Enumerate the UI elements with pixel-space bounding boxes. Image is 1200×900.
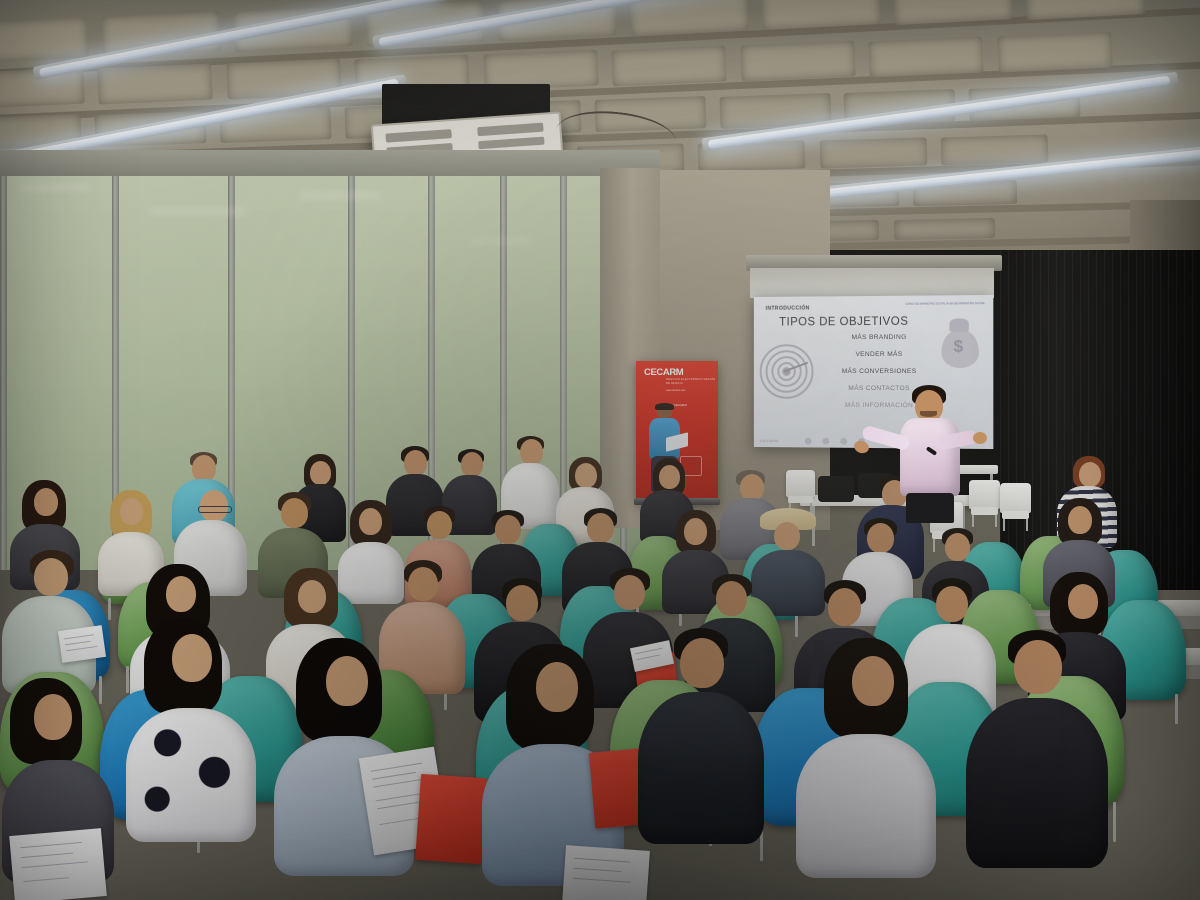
handout xyxy=(9,828,107,900)
banner-logo: CECARM xyxy=(644,367,683,378)
audience-member xyxy=(268,640,418,870)
glass-reflection xyxy=(20,186,90,189)
slide-corner-note: CURSO DE MARKETING DIGITAL PLAN DE MARKE… xyxy=(905,302,985,307)
slide-bullet: MÁS BRANDING xyxy=(815,334,945,342)
audience-member xyxy=(476,646,628,882)
ceiling-coffer xyxy=(612,45,728,86)
ceiling-coffer xyxy=(740,41,856,82)
eyeglasses xyxy=(198,506,232,513)
glass-reflection xyxy=(300,194,380,197)
slide-bullet: VENDER MÁS xyxy=(815,351,945,358)
audience-member xyxy=(632,628,768,848)
slide-title: TIPOS DE OBJETIVOS xyxy=(779,316,908,329)
presenter xyxy=(878,385,988,520)
ceiling-coffer xyxy=(98,63,214,104)
ceiling-coffer xyxy=(819,137,927,168)
chair-leg xyxy=(1175,694,1178,724)
audience-member xyxy=(120,620,260,840)
seminar-room-photo: INTRODUCCIÓN CURSO DE MARKETING DIGITAL … xyxy=(0,0,1200,900)
slide-bullet: MÁS CONVERSIONES xyxy=(815,368,945,375)
ac-vane xyxy=(478,137,544,150)
partition-header-rail xyxy=(0,150,660,176)
ceiling-coffer xyxy=(0,17,89,63)
ac-vane xyxy=(477,123,543,137)
glass-reflection xyxy=(470,240,530,242)
ceiling-coffer xyxy=(894,218,996,240)
ac-vane xyxy=(385,129,451,143)
audience-member xyxy=(0,550,100,690)
audience xyxy=(0,440,1200,900)
chair-leg xyxy=(1113,802,1116,842)
ceiling-coffer xyxy=(941,134,1049,165)
slide-kicker: INTRODUCCIÓN xyxy=(766,305,810,311)
target-dartboard-icon xyxy=(760,344,815,400)
banner-subtitle: NEGOCIO ELECTRÓNICO REGIÓN DE MURCIA xyxy=(666,378,718,386)
audience-member xyxy=(790,640,940,874)
ceiling-coffer xyxy=(997,32,1113,73)
ceiling-coffer xyxy=(629,0,749,36)
handout xyxy=(562,845,650,900)
glass-reflection xyxy=(150,210,246,213)
audience-member xyxy=(960,630,1112,870)
banner-url: www.cecarm.com xyxy=(666,389,686,392)
ceiling-coffer xyxy=(868,36,984,77)
projection-screen-top-border xyxy=(750,268,994,298)
